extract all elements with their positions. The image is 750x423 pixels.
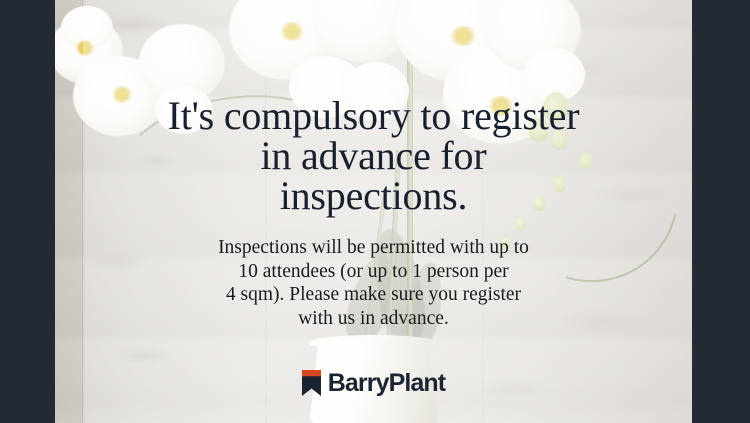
headline: It's compulsory to register in advance f…: [55, 96, 692, 216]
body-copy-line: 10 attendees (or up to 1 person per: [55, 260, 692, 284]
right-letterbox-bar: [692, 0, 750, 423]
headline-line: It's compulsory to register: [55, 96, 692, 136]
barryplant-bookmark-icon: [302, 370, 321, 396]
headline-line: inspections.: [55, 176, 692, 216]
headline-line: in advance for: [55, 136, 692, 176]
body-copy-line: 4 sqm). Please make sure you register: [55, 283, 692, 307]
body-copy: Inspections will be permitted with up to…: [55, 236, 692, 330]
barryplant-logo: BarryPlant: [55, 370, 692, 396]
banner-content: It's compulsory to register in advance f…: [55, 0, 692, 423]
body-copy-line: with us in advance.: [55, 307, 692, 331]
body-copy-line: Inspections will be permitted with up to: [55, 236, 692, 260]
left-letterbox-bar: [0, 0, 55, 423]
barryplant-wordmark: BarryPlant: [328, 370, 445, 396]
promotional-banner: It's compulsory to register in advance f…: [0, 0, 750, 423]
